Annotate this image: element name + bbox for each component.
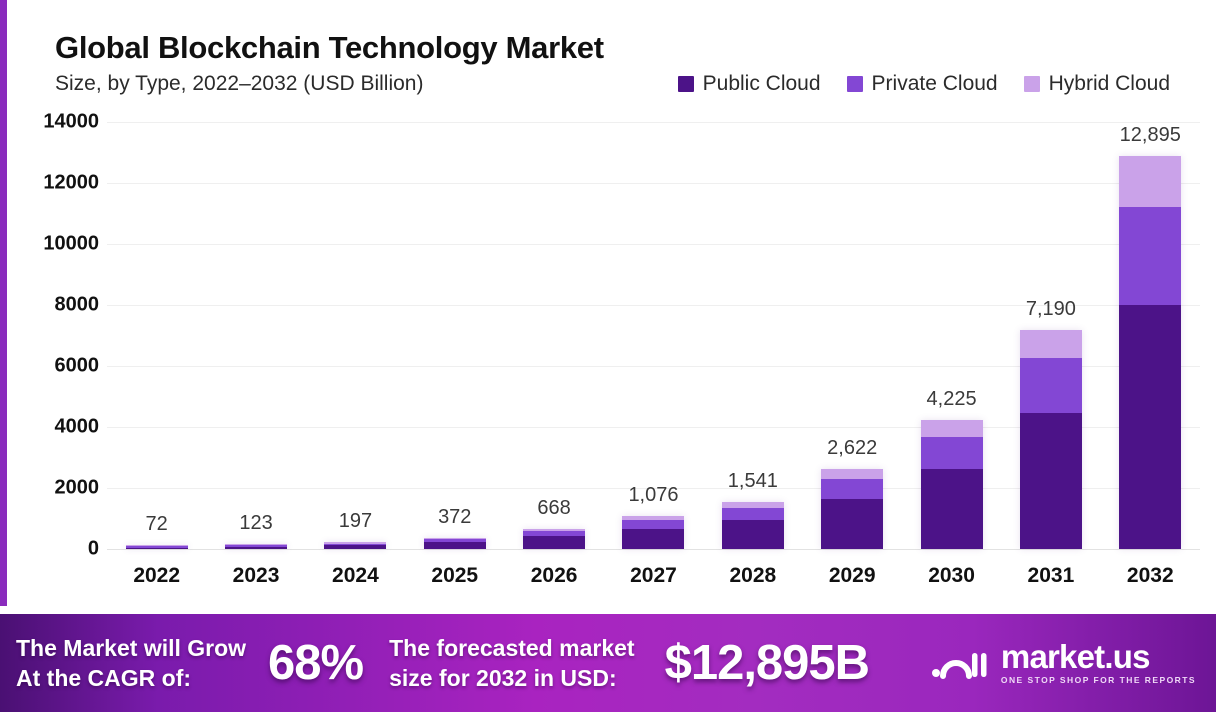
bar-stack[interactable]: 12,895 <box>1119 156 1181 549</box>
bar-value-label: 1,076 <box>628 484 678 507</box>
forecast-value: $12,895B <box>665 635 870 691</box>
chart-legend: Public Cloud Private Cloud Hybrid Cloud <box>678 72 1170 96</box>
legend-swatch-hybrid-cloud <box>1024 76 1040 92</box>
bar-segment-private-cloud[interactable] <box>1020 358 1082 413</box>
bar-value-label: 372 <box>438 506 471 529</box>
bar-group-2022: 72 <box>107 122 206 549</box>
plot-area: 02000400060008000100001200014000 7212319… <box>7 122 1212 562</box>
legend-label-public-cloud: Public Cloud <box>703 72 821 96</box>
bar-segment-hybrid-cloud[interactable] <box>1020 330 1082 358</box>
bar-stack[interactable]: 197 <box>324 542 386 549</box>
bar-stack[interactable]: 4,225 <box>921 420 983 549</box>
bar-segment-public-cloud[interactable] <box>225 547 287 549</box>
chart-header: Global Blockchain Technology Market Size… <box>55 28 1185 110</box>
bar-value-label: 7,190 <box>1026 298 1076 321</box>
x-axis-label-2023: 2023 <box>206 564 305 588</box>
bar-segment-hybrid-cloud[interactable] <box>821 469 883 479</box>
chart-subtitle: Size, by Type, 2022–2032 (USD Billion) <box>55 72 423 96</box>
legend-swatch-private-cloud <box>847 76 863 92</box>
x-axis-label-2032: 2032 <box>1101 564 1200 588</box>
bar-value-label: 2,622 <box>827 437 877 460</box>
forecast-label-line2: size for 2032 in USD: <box>389 663 634 693</box>
y-axis-tick-label: 6000 <box>55 355 100 378</box>
chart-card: Global Blockchain Technology Market Size… <box>7 4 1212 602</box>
x-axis: 2022202320242025202620272028202920302031… <box>107 564 1200 588</box>
x-axis-label-2030: 2030 <box>902 564 1001 588</box>
bar-segment-private-cloud[interactable] <box>1119 207 1181 305</box>
bar-stack[interactable]: 72 <box>126 545 188 550</box>
x-axis-label-2024: 2024 <box>306 564 405 588</box>
market-us-logo-icon <box>931 643 989 683</box>
y-axis-tick-label: 4000 <box>55 416 100 439</box>
page-title: Global Blockchain Technology Market <box>55 28 1185 68</box>
bar-segment-public-cloud[interactable] <box>722 520 784 549</box>
bar-segment-hybrid-cloud[interactable] <box>1119 156 1181 207</box>
forecast-label-line1: The forecasted market <box>389 633 634 663</box>
bar-value-label: 197 <box>339 510 372 533</box>
bar-segment-public-cloud[interactable] <box>1119 305 1181 549</box>
bar-stack[interactable]: 123 <box>225 544 287 549</box>
y-axis-tick-label: 2000 <box>55 477 100 500</box>
y-axis-tick-label: 10000 <box>43 233 99 256</box>
bar-segment-public-cloud[interactable] <box>126 548 188 550</box>
cagr-value: 68% <box>268 635 363 691</box>
bar-stack[interactable]: 7,190 <box>1020 330 1082 549</box>
bar-segment-public-cloud[interactable] <box>523 536 585 549</box>
bar-group-2032: 12,895 <box>1101 122 1200 549</box>
market-us-logo[interactable]: market.us ONE STOP SHOP FOR THE REPORTS <box>931 640 1202 686</box>
y-axis: 02000400060008000100001200014000 <box>17 122 99 549</box>
bar-segment-public-cloud[interactable] <box>821 499 883 549</box>
bar-segment-private-cloud[interactable] <box>921 437 983 469</box>
logo-wordmark: market.us <box>1001 640 1196 674</box>
subtitle-legend-row: Size, by Type, 2022–2032 (USD Billion) P… <box>55 72 1170 96</box>
cagr-label: The Market will Grow At the CAGR of: <box>16 633 246 693</box>
axis-baseline <box>107 549 1200 550</box>
bar-group-2030: 4,225 <box>902 122 1001 549</box>
legend-label-hybrid-cloud: Hybrid Cloud <box>1049 72 1170 96</box>
bar-segment-public-cloud[interactable] <box>921 469 983 549</box>
cagr-label-line1: The Market will Grow <box>16 633 246 663</box>
summary-banner: The Market will Grow At the CAGR of: 68%… <box>0 614 1216 712</box>
y-axis-tick-label: 8000 <box>55 294 100 317</box>
bar-value-label: 12,895 <box>1120 124 1181 147</box>
infographic-root: Global Blockchain Technology Market Size… <box>0 0 1216 712</box>
bar-value-label: 123 <box>239 512 272 535</box>
bar-series-container: 721231973726681,0761,5412,6224,2257,1901… <box>107 122 1200 549</box>
bar-stack[interactable]: 668 <box>523 529 585 549</box>
bar-segment-public-cloud[interactable] <box>1020 413 1082 549</box>
legend-item-hybrid-cloud[interactable]: Hybrid Cloud <box>1024 72 1170 96</box>
bar-group-2027: 1,076 <box>604 122 703 549</box>
logo-tagline: ONE STOP SHOP FOR THE REPORTS <box>1001 674 1196 686</box>
bar-value-label: 1,541 <box>728 470 778 493</box>
bar-group-2026: 668 <box>504 122 603 549</box>
bar-segment-public-cloud[interactable] <box>324 545 386 549</box>
bar-segment-private-cloud[interactable] <box>622 520 684 528</box>
bar-segment-public-cloud[interactable] <box>424 542 486 549</box>
bar-group-2028: 1,541 <box>703 122 802 549</box>
x-axis-label-2022: 2022 <box>107 564 206 588</box>
bar-group-2025: 372 <box>405 122 504 549</box>
bar-group-2029: 2,622 <box>803 122 902 549</box>
y-axis-tick-label: 14000 <box>43 111 99 134</box>
legend-item-public-cloud[interactable]: Public Cloud <box>678 72 821 96</box>
bar-value-label: 72 <box>146 513 168 536</box>
legend-label-private-cloud: Private Cloud <box>872 72 998 96</box>
bar-group-2024: 197 <box>306 122 405 549</box>
cagr-label-line2: At the CAGR of: <box>16 663 246 693</box>
y-axis-tick-label: 12000 <box>43 172 99 195</box>
legend-swatch-public-cloud <box>678 76 694 92</box>
legend-item-private-cloud[interactable]: Private Cloud <box>847 72 998 96</box>
bar-stack[interactable]: 2,622 <box>821 469 883 549</box>
x-axis-label-2027: 2027 <box>604 564 703 588</box>
bar-value-label: 4,225 <box>927 388 977 411</box>
bar-segment-public-cloud[interactable] <box>622 529 684 549</box>
x-axis-label-2026: 2026 <box>504 564 603 588</box>
market-us-logo-text: market.us ONE STOP SHOP FOR THE REPORTS <box>1001 640 1196 686</box>
bar-stack[interactable]: 1,541 <box>722 502 784 549</box>
forecast-label: The forecasted market size for 2032 in U… <box>389 633 634 693</box>
x-axis-label-2031: 2031 <box>1001 564 1100 588</box>
x-axis-label-2025: 2025 <box>405 564 504 588</box>
left-accent-stripe <box>0 0 7 606</box>
y-axis-tick-label: 0 <box>88 538 99 561</box>
x-axis-label-2029: 2029 <box>803 564 902 588</box>
bar-group-2031: 7,190 <box>1001 122 1100 549</box>
bar-stack[interactable]: 1,076 <box>622 516 684 549</box>
bar-segment-hybrid-cloud[interactable] <box>921 420 983 437</box>
bar-value-label: 668 <box>537 497 570 520</box>
bar-segment-private-cloud[interactable] <box>722 508 784 520</box>
x-axis-label-2028: 2028 <box>703 564 802 588</box>
bar-stack[interactable]: 372 <box>424 538 486 549</box>
bar-group-2023: 123 <box>206 122 305 549</box>
bar-segment-private-cloud[interactable] <box>821 479 883 499</box>
